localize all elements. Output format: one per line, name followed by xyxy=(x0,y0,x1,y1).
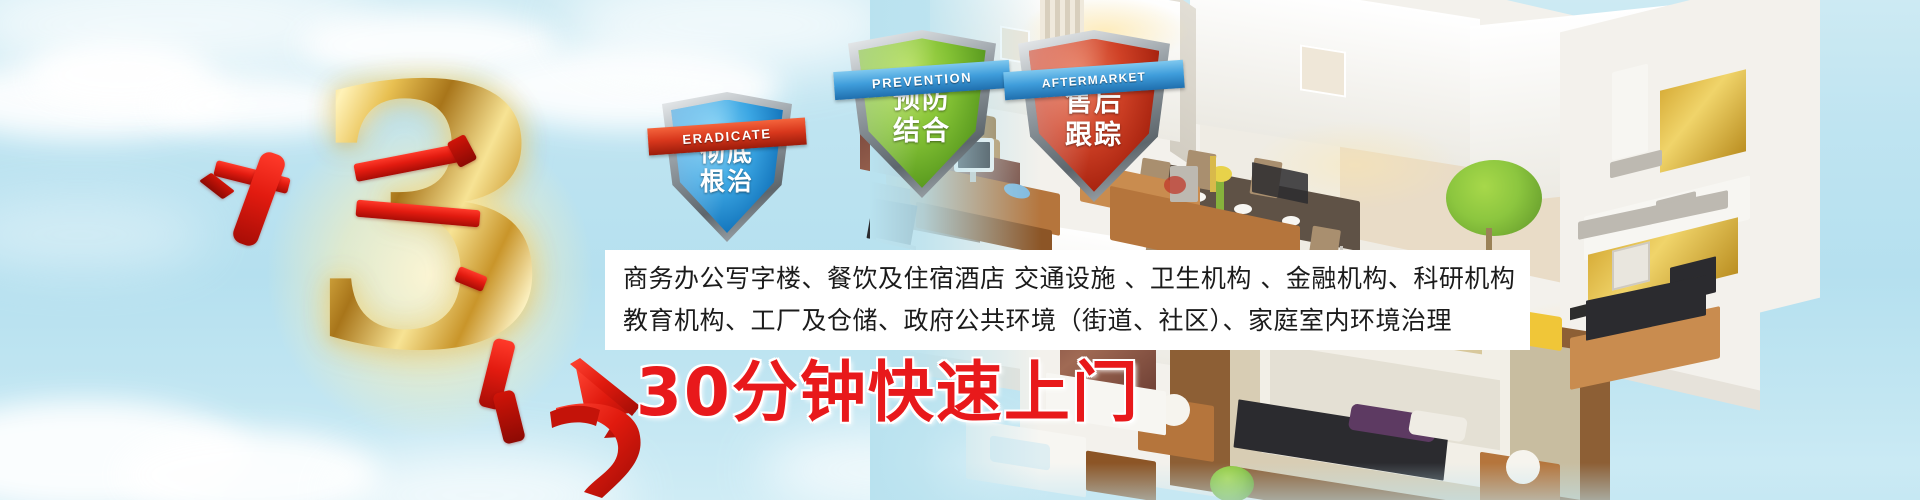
headline-text: 30分钟快速上门 xyxy=(636,358,1140,428)
shield-aftermarket[interactable]: 售后 跟踪 AFTERMARKET xyxy=(1018,30,1170,202)
shield-prevention[interactable]: 预防 结合 PREVENTION xyxy=(848,30,996,198)
shield-cn-line-2: 根治 xyxy=(662,167,792,196)
potted-plant-dining xyxy=(1446,160,1542,236)
caption-line-1: 商务办公写字楼、餐饮及住宿酒店 交通设施 、卫生机构 、金融机构、科研机构 xyxy=(623,258,1516,300)
shield-cn-line-2: 跟踪 xyxy=(1018,119,1170,152)
office-chair xyxy=(866,198,917,246)
caption-panel: 商务办公写字楼、餐饮及住宿酒店 交通设施 、卫生机构 、金融机构、科研机构 教育… xyxy=(605,250,1530,350)
table-lamp-2 xyxy=(1506,450,1540,484)
shield-cn-line-2: 结合 xyxy=(848,116,996,148)
shield-eradicate[interactable]: 彻底 根治 ERADICATE xyxy=(662,92,792,242)
refrigerator xyxy=(1612,64,1648,161)
wall-picture-framed xyxy=(1300,44,1346,97)
promo-banner: 3 xyxy=(0,0,1920,500)
caption-line-2: 教育机构、工厂及仓储、政府公共环境（街道、社区）、家庭室内环境治理 xyxy=(623,300,1516,342)
